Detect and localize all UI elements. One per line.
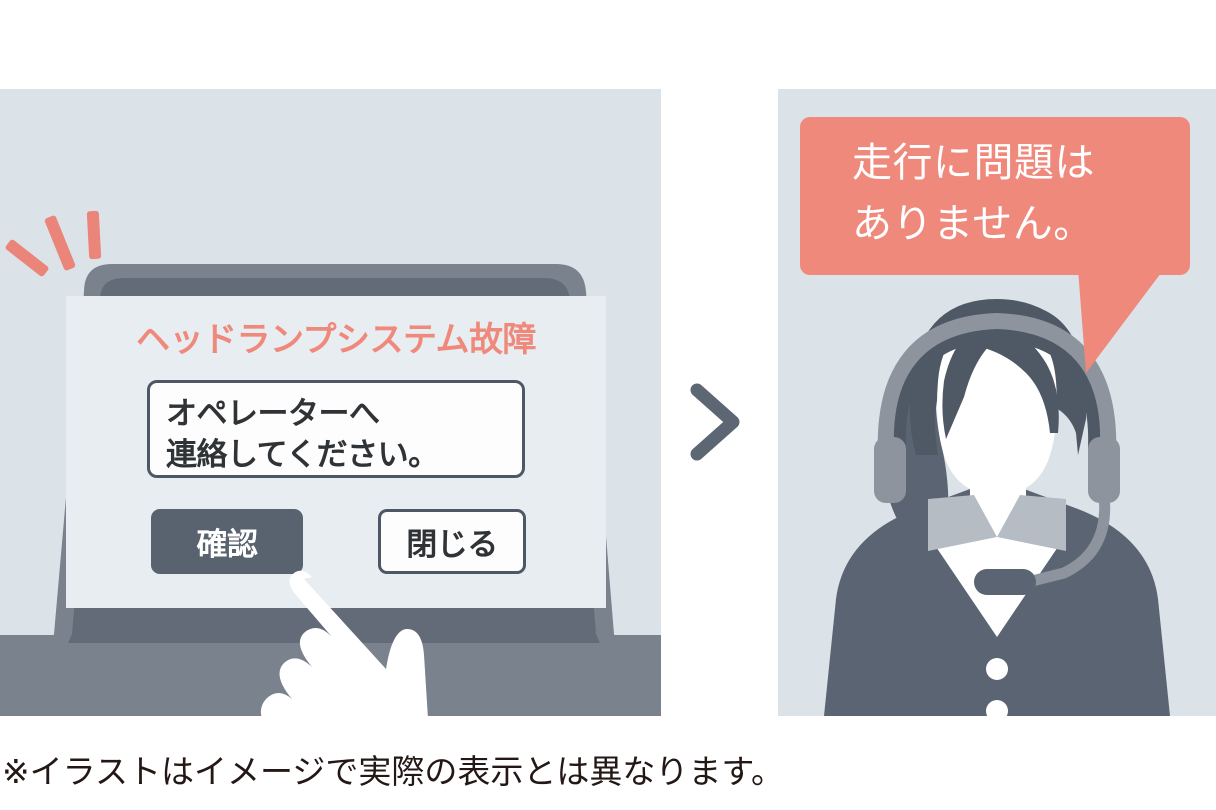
speech-bubble-line-2: ありません。 [852,194,1094,255]
illustration-stage: ヘッドランプシステム故障 オペレーターへ 連絡してください。 確認 閉じる [0,0,1216,810]
message-line-2: 連絡してください。 [166,429,439,474]
speech-bubble-line-1: 走行に問題は [852,133,1095,194]
chevron-right-icon [681,382,751,462]
screen-title-alert: ヘッドランプシステム故障 [66,312,606,361]
pointing-hand-icon [240,519,540,716]
right-panel-operator: 走行に問題は ありません。 [778,89,1216,716]
burst-line-2 [44,215,76,271]
message-line-1: オペレーターへ [166,388,380,433]
speech-bubble: 走行に問題は ありません。 [800,117,1190,275]
message-box: オペレーターへ 連絡してください。 [147,380,525,478]
footnote-caption: ※イラストはイメージで実際の表示とは異なります。 [2,745,784,793]
speech-bubble-tail [1078,269,1198,379]
burst-line-1 [4,238,49,277]
left-panel-vehicle-display: ヘッドランプシステム故障 オペレーターへ 連絡してください。 確認 閉じる [0,89,661,716]
alert-burst-icon [10,189,140,299]
burst-line-3 [87,211,101,260]
